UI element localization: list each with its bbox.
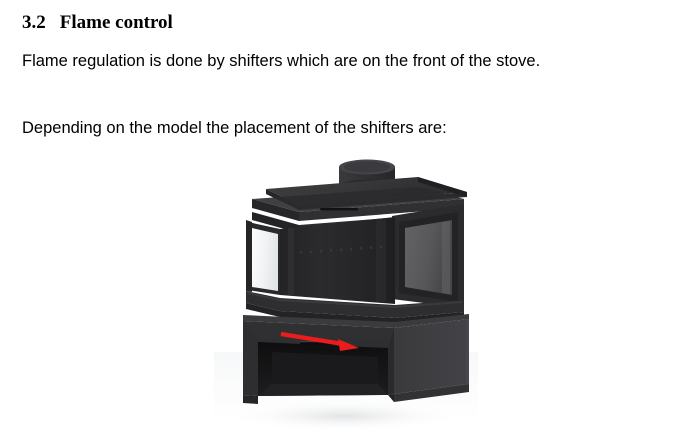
stove-figure — [196, 152, 496, 440]
paragraph-flame-regulation: Flame regulation is done by shifters whi… — [22, 51, 540, 71]
base-right-face — [394, 319, 469, 394]
stove-illustration — [196, 152, 496, 440]
stove-firebox-front — [280, 217, 395, 304]
top-air-slot — [320, 208, 358, 210]
section-number: 3.2 — [22, 12, 46, 34]
stove-left-side-panel — [248, 222, 280, 295]
stove-right-side-panel — [392, 204, 464, 308]
stove-pedestal-base — [243, 314, 469, 404]
stove-drop-shadow — [228, 400, 460, 432]
left-corner-post — [246, 220, 252, 292]
section-title: Flame control — [60, 12, 173, 34]
section-heading: 3.2 Flame control — [22, 12, 173, 34]
paragraph-shifter-placement: Depending on the model the placement of … — [22, 118, 447, 138]
document-page: 3.2 Flame control Flame regulation is do… — [0, 0, 698, 442]
left-glass-pane — [252, 228, 278, 291]
